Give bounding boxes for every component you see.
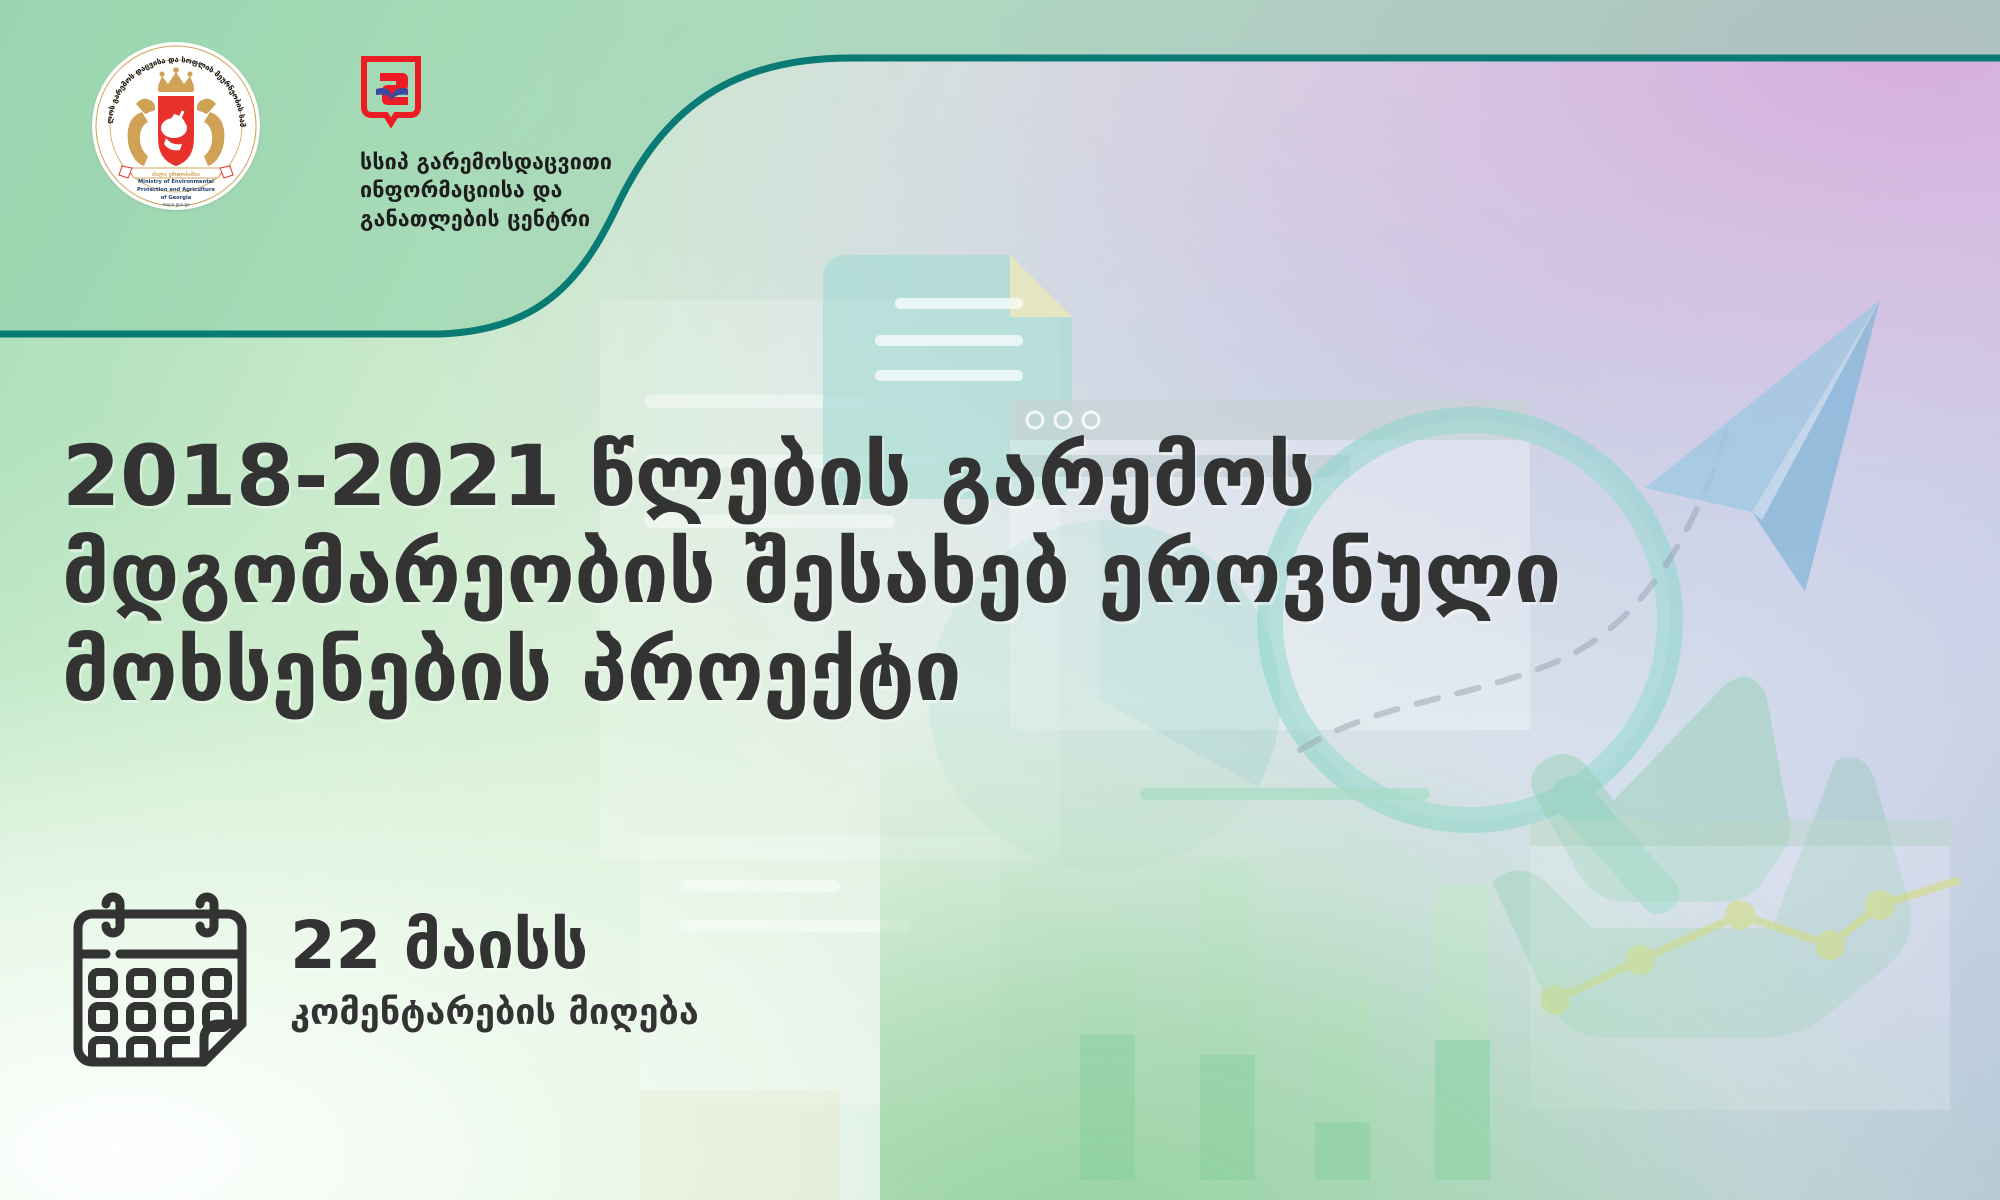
deadline-date: 22 მაისს <box>290 910 699 981</box>
eiec-logo-icon <box>360 55 422 133</box>
deadline-caption: კომენტარების მიღება <box>290 993 699 1033</box>
bar-chart-illustration <box>1080 788 1490 1180</box>
line-chart-illustration <box>1530 820 1960 1110</box>
title-line-3: მოხსენების პროექტი <box>62 623 1922 720</box>
ministry-emblem: საქართველოს გარემოს დაცვისა და სოფლის მე… <box>92 42 260 210</box>
title-line-2: მდგომარეობის შესახებ ეროვნული <box>62 525 1922 622</box>
svg-text:Ministry of Environmental: Ministry of Environmental <box>138 179 214 185</box>
center-logo-text: სსიპ გარემოსდაცვითი ინფორმაციისა და განა… <box>360 149 690 234</box>
poster-canvas: საქართველოს გარემოს დაცვისა და სოფლის მე… <box>0 0 2000 1200</box>
deadline-text-group: 22 მაისს კომენტარების მიღება <box>290 880 699 1034</box>
page-title: 2018-2021 წლების გარემოს მდგომარეობის შე… <box>62 428 1922 720</box>
logo-row: საქართველოს გარემოს დაცვისა და სოფლის მე… <box>0 0 760 290</box>
svg-text:Protection and Agriculture: Protection and Agriculture <box>137 187 215 193</box>
svg-text:mepa.gov.ge: mepa.gov.ge <box>162 202 190 207</box>
calendar-icon <box>60 880 260 1080</box>
svg-text:ძალა ერთობაშია: ძალა ერთობაშია <box>152 171 200 178</box>
title-line-1: 2018-2021 წლების გარემოს <box>62 428 1922 525</box>
svg-text:of Georgia: of Georgia <box>161 195 192 201</box>
center-logo-group: სსიპ გარემოსდაცვითი ინფორმაციისა და განა… <box>360 55 690 234</box>
deadline-block: 22 მაისს კომენტარების მიღება <box>60 880 699 1080</box>
pointing-hand-illustration <box>1492 677 1911 1038</box>
